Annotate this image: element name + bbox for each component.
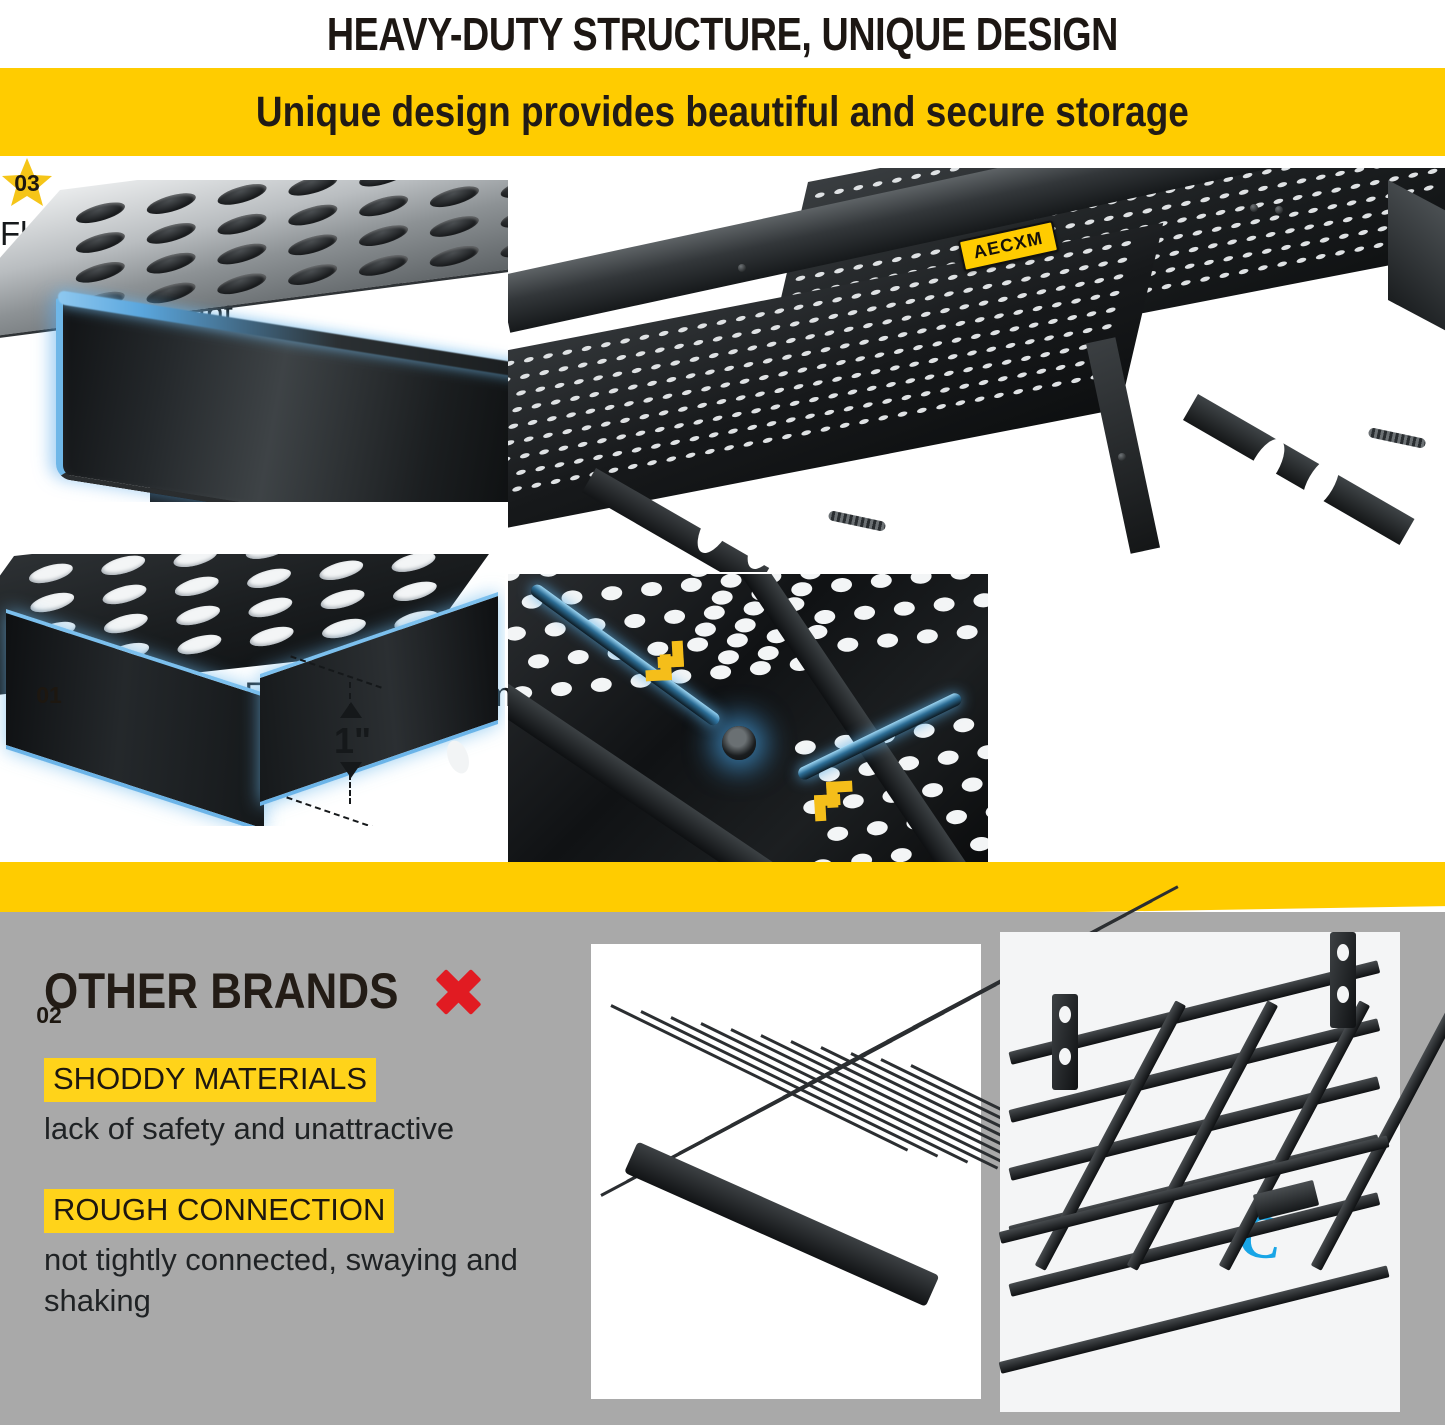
- bolt-highlight-icon: [722, 726, 756, 760]
- dimension-value: 1": [334, 720, 371, 762]
- comparison-item-title: SHODDY MATERIALS: [44, 1058, 376, 1102]
- comparison-text-column: OTHER BRANDS SHODDY MATERIALS lack of sa…: [44, 960, 564, 1321]
- competitor-wire-mesh-photo: [591, 944, 981, 1399]
- feature-number: 01: [36, 682, 62, 709]
- comparison-heading-text: OTHER BRANDS: [44, 962, 398, 1020]
- comparison-item-title: ROUGH CONNECTION: [44, 1189, 394, 1233]
- page-title: HEAVY-DUTY STRUCTURE, UNIQUE DESIGN: [327, 7, 1118, 61]
- comparison-item-description: not tightly connected, swaying and shaki…: [44, 1240, 564, 1321]
- header-subtitle-band: Unique design provides beautiful and sec…: [0, 68, 1445, 156]
- page-subtitle: Unique design provides beautiful and sec…: [256, 88, 1189, 137]
- shelf-structure: [508, 168, 1445, 572]
- dimension-leader-bottom: [286, 796, 377, 826]
- comparison-item: SHODDY MATERIALS lack of safety and unat…: [44, 1058, 564, 1149]
- corner-thickness-photo: 1": [0, 554, 505, 826]
- slide-rail-detail-photo: [508, 574, 988, 872]
- competitor-slat-rack-photo: C: [1000, 932, 1400, 1412]
- c-channel-profile-photo: [0, 180, 508, 502]
- feature-number: 03: [14, 170, 40, 197]
- dimension-line-bottom: [349, 774, 351, 804]
- dimension-annotation: 1": [300, 662, 500, 824]
- comparison-item: ROUGH CONNECTION not tightly connected, …: [44, 1189, 564, 1321]
- perforation-holes: [14, 554, 505, 556]
- header-title-bar: HEAVY-DUTY STRUCTURE, UNIQUE DESIGN: [0, 0, 1445, 68]
- dimension-arrow-down-icon: [340, 762, 362, 778]
- dimension-arrow-up-icon: [340, 702, 362, 718]
- star-badge-icon: 03: [0, 156, 54, 210]
- red-x-icon: [427, 960, 489, 1022]
- comparison-heading: OTHER BRANDS: [44, 960, 564, 1022]
- perforated-shelf-hero-photo: AECXM: [508, 168, 1445, 572]
- feature-region: 01 One-piece Folding And Forming 1" 02 T…: [0, 156, 1445, 879]
- comparison-section: OTHER BRANDS SHODDY MATERIALS lack of sa…: [0, 912, 1445, 1425]
- feature-number: 02: [36, 1002, 62, 1029]
- comparison-item-description: lack of safety and unattractive: [44, 1109, 564, 1149]
